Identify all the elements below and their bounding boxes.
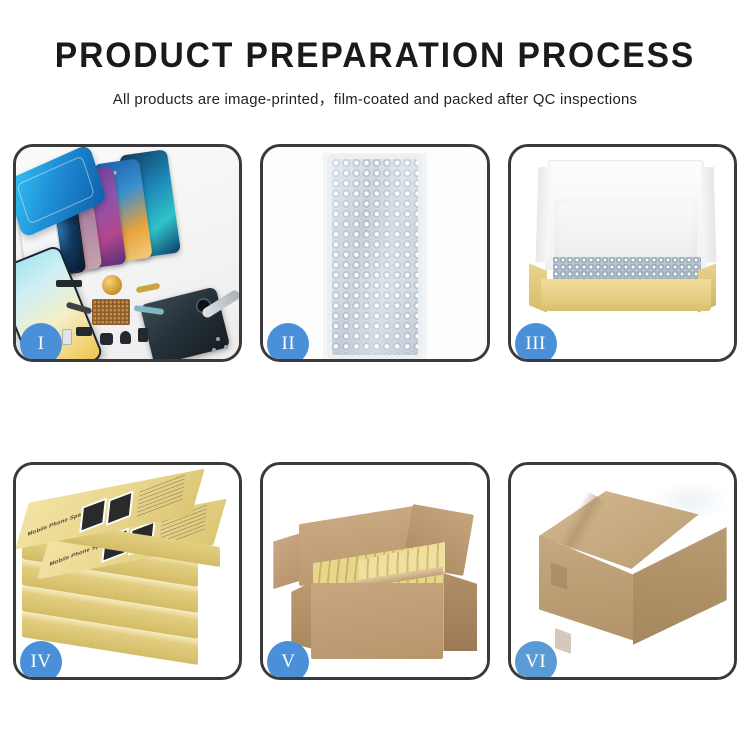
step-badge-2: II	[267, 323, 309, 362]
product-preparation-infographic: PRODUCT PREPARATION PROCESS All products…	[0, 0, 750, 750]
carton-right-face	[443, 573, 477, 651]
process-steps-grid: I II III	[13, 144, 737, 680]
copper-mesh-part	[92, 299, 130, 325]
step-badge-5: V	[267, 641, 309, 680]
header: PRODUCT PREPARATION PROCESS All products…	[0, 0, 750, 109]
page-title: PRODUCT PREPARATION PROCESS	[15, 38, 735, 73]
step-panel-1: I	[13, 144, 242, 362]
tape-tab-lower	[555, 628, 571, 654]
screw-3	[212, 348, 216, 352]
flex-cable-1	[136, 283, 161, 294]
screw-2	[224, 345, 228, 349]
phone-back-cover	[140, 286, 231, 359]
page-subtitle: All products are image-printed，film-coat…	[8, 87, 743, 109]
box-print-screen-1	[79, 498, 107, 534]
step-panel-3: III	[508, 144, 737, 362]
step-panel-5: V	[260, 462, 489, 680]
chip-part-1	[56, 280, 82, 287]
step-badge-1: I	[20, 323, 62, 362]
step-panel-2: II	[260, 144, 489, 362]
chip-part-4	[120, 331, 131, 344]
step-panel-6: VI	[508, 462, 737, 680]
bubble-wrap-sheen	[332, 159, 418, 355]
carton-left-face	[291, 581, 313, 649]
foam-insert	[555, 199, 697, 261]
step-badge-6: VI	[515, 641, 557, 680]
sim-tray-part	[62, 329, 72, 345]
step-panel-4: Mobile Phone Spare Parts Mobile Phone Sp…	[13, 462, 242, 680]
step-badge-3: III	[515, 323, 557, 362]
chip-part-5	[138, 328, 148, 342]
screw-1	[216, 337, 220, 341]
box-print-screen-2	[106, 490, 134, 526]
step-badge-4: IV	[20, 641, 62, 680]
carton-front-face	[311, 583, 443, 659]
chip-part-2	[76, 327, 92, 336]
vibration-motor-part	[102, 275, 122, 295]
chip-part-3	[100, 333, 113, 345]
mailer-box-front	[541, 279, 711, 311]
box-print-specs-1	[137, 474, 186, 517]
